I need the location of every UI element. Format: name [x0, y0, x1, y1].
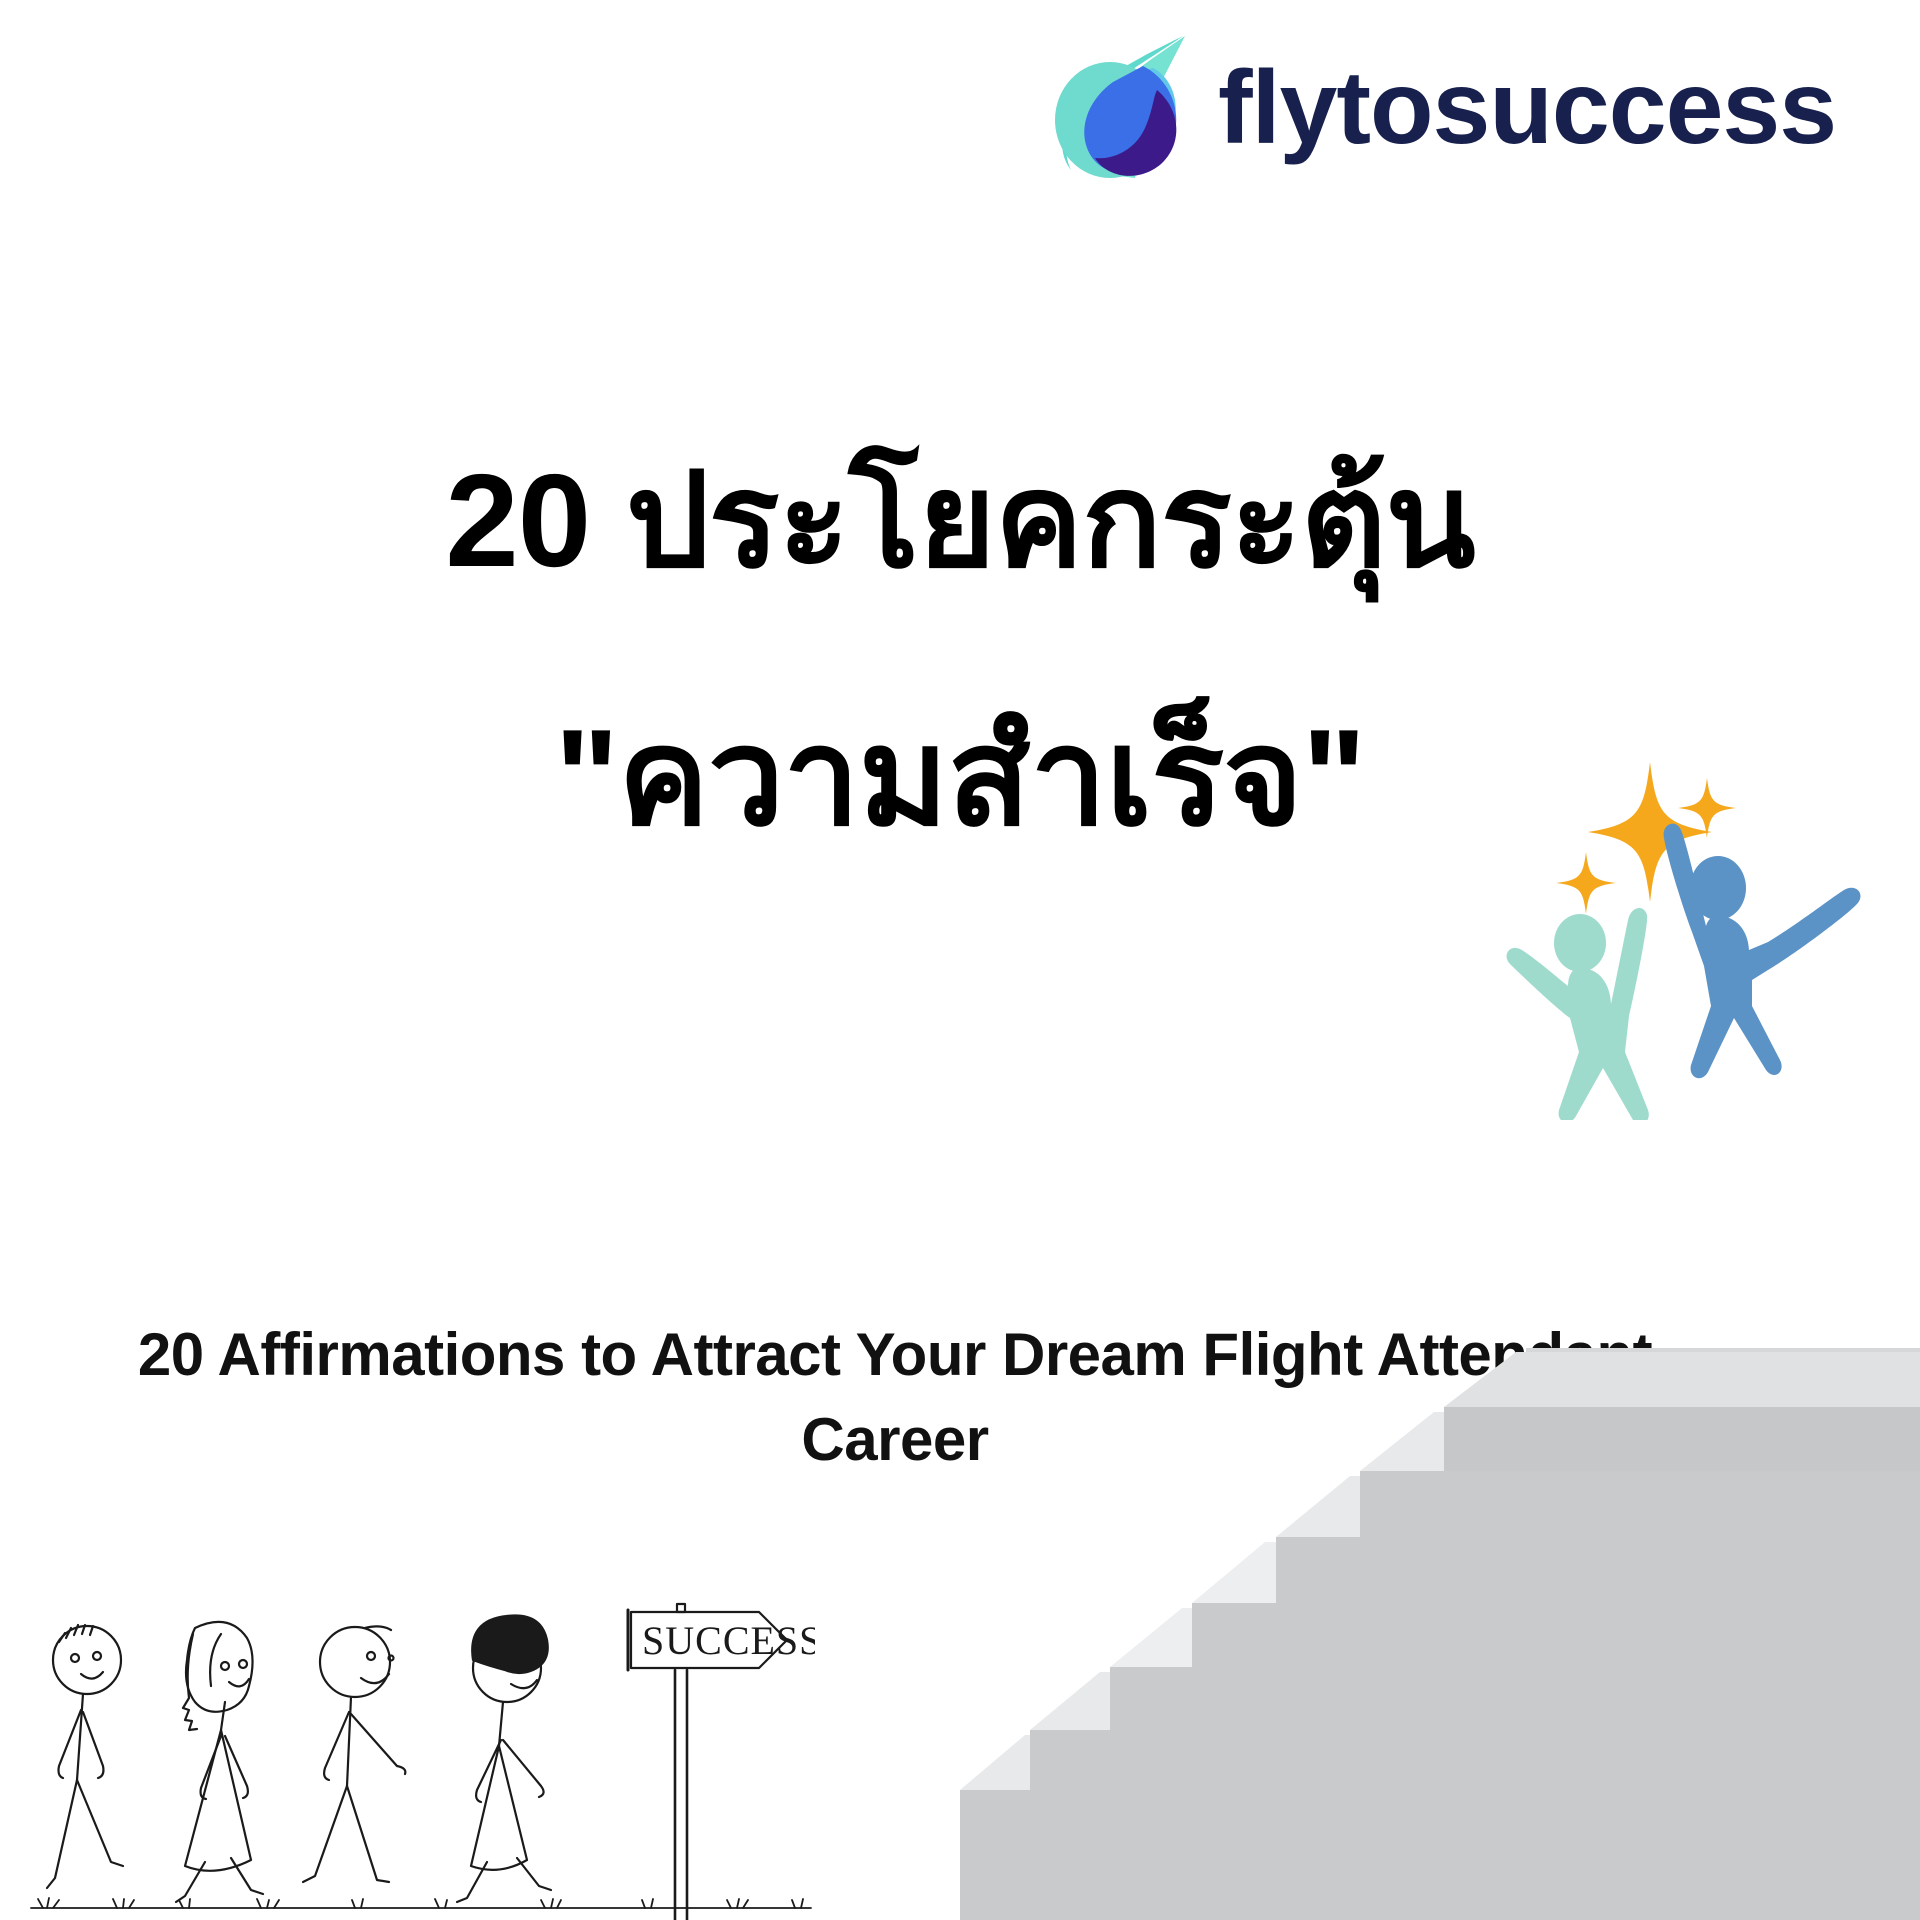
ground-line — [31, 1898, 811, 1908]
droplet-leaf-icon — [1035, 28, 1200, 188]
headline-line-2: "ความสำเร็จ" — [0, 709, 1920, 845]
success-sign-label: SUCCESS — [642, 1618, 815, 1663]
stick-figure-4 — [457, 1616, 551, 1903]
brand-logo[interactable]: flytosuccess — [1035, 20, 1865, 195]
poster-canvas: flytosuccess 20 ประโยคกระตุ้น "ความสำเร็… — [0, 0, 1920, 1920]
stick-figure-1 — [47, 1625, 123, 1888]
success-sign — [628, 1604, 787, 1920]
celebrating-figure-blue — [1664, 824, 1861, 1079]
stick-figure-2 — [176, 1622, 263, 1902]
headline-line-1: 20 ประโยคกระตุ้น — [0, 455, 1920, 587]
sparkle-star-small-left — [1556, 852, 1616, 914]
celebrating-figure-mint — [1507, 908, 1649, 1120]
page-subtitle: 20 Affirmations to Attract Your Dream Fl… — [120, 1312, 1670, 1482]
stick-figure-3 — [303, 1626, 405, 1882]
page-title: 20 ประโยคกระตุ้น "ความสำเร็จ" — [0, 455, 1920, 845]
walking-people-illustration: SUCCESS — [25, 1590, 815, 1920]
brand-wordmark: flytosuccess — [1218, 56, 1836, 160]
staircase-illustration — [960, 1090, 1920, 1920]
